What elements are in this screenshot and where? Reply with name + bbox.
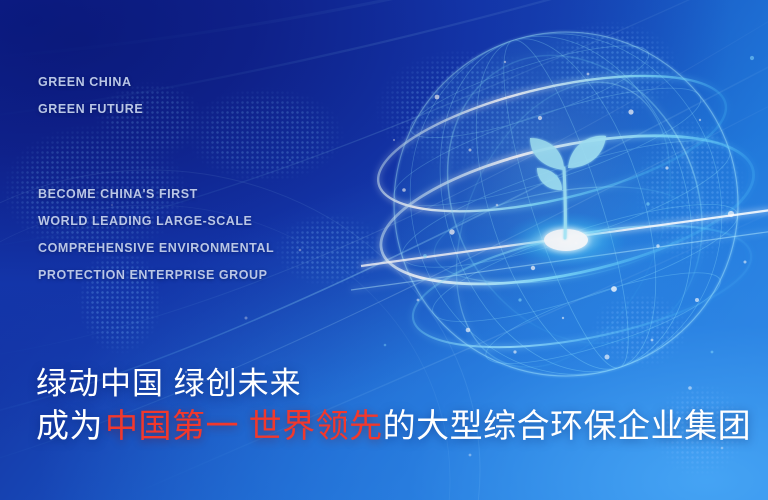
headline-block: 绿动中国 绿创未来 成为中国第一 世界领先的大型综合环保企业集团 [36,363,751,448]
mission-line-4: PROTECTION ENTERPRISE GROUP [38,262,274,289]
mission-line-3: COMPREHENSIVE ENVIRONMENTAL [38,235,274,262]
mission-line-2: WORLD LEADING LARGE-SCALE [38,208,274,235]
headline-accent-text: 中国第一 世界领先 [105,407,383,444]
headline-tail-text: 的大型综合环保企业集团 [383,407,752,444]
sprout-seedling-icon [530,136,606,238]
headline-line-2: 成为中国第一 世界领先的大型综合环保企业集团 [36,404,751,448]
tagline-line-1: GREEN CHINA [38,69,143,96]
hero-banner: GREEN CHINA GREEN FUTURE BECOME CHINA'S … [0,0,768,500]
headline-lead-text: 成为 [36,407,103,444]
mission-line-1: BECOME CHINA'S FIRST [38,181,274,208]
mission-statement-block: BECOME CHINA'S FIRST WORLD LEADING LARGE… [38,181,274,289]
tagline-block: GREEN CHINA GREEN FUTURE [38,69,143,123]
tagline-line-2: GREEN FUTURE [38,96,143,123]
headline-line-1: 绿动中国 绿创未来 [36,363,751,404]
